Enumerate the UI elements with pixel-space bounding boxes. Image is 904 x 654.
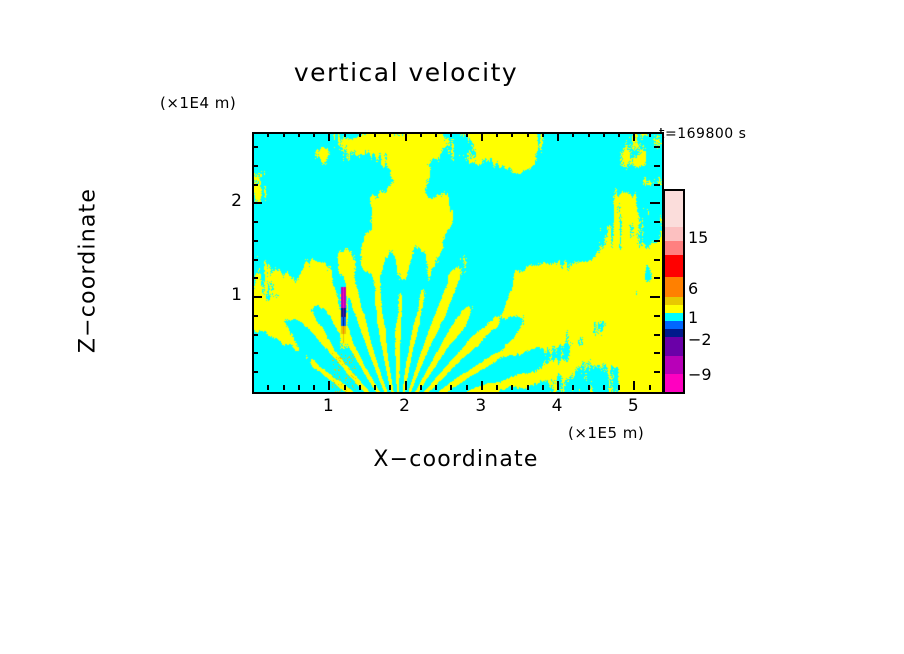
tick-mark [252,352,258,354]
contour-plot-area [252,132,664,394]
tick-mark [252,221,258,223]
colorbar-band [665,277,683,297]
tick-mark [298,132,300,137]
tick-mark [588,132,590,137]
tick-mark [252,184,258,186]
tick-mark [654,277,660,279]
colorbar-band [665,191,683,227]
colorbar-band [665,356,683,374]
contour-field [254,134,662,392]
tick-mark [405,381,407,390]
x-tick-label: 2 [390,396,420,416]
tick-mark [654,315,660,317]
tick-mark [649,385,651,390]
colorbar-band [665,337,683,356]
tick-mark [496,132,498,137]
tick-mark [435,385,437,390]
tick-mark [654,259,660,261]
tick-mark [283,132,285,137]
tick-mark [496,385,498,390]
tick-mark [588,385,590,390]
colorbar-band [665,313,683,321]
tick-mark [252,371,258,373]
tick-mark [633,381,635,390]
tick-mark [267,385,269,390]
tick-mark [542,132,544,137]
tick-mark [435,132,437,137]
colorbar-band [665,297,683,305]
tick-mark [283,385,285,390]
tick-mark [650,202,660,204]
tick-mark [572,132,574,137]
tick-mark [252,259,258,261]
tick-mark [481,381,483,390]
colorbar-band [665,241,683,255]
tick-mark [654,240,660,242]
colorbar-band [665,305,683,313]
x-tick-label: 1 [313,396,343,416]
tick-mark [527,385,529,390]
tick-mark [557,381,559,390]
tick-mark [450,132,452,137]
tick-mark [313,132,315,137]
tick-mark [359,385,361,390]
tick-mark [572,385,574,390]
tick-mark [450,385,452,390]
tick-mark [328,381,330,390]
tick-mark [252,165,258,167]
tick-mark [405,132,407,141]
tick-mark [252,296,262,298]
colorbar-band [665,374,683,392]
tick-mark [344,385,346,390]
colorbar-band [665,227,683,241]
tick-mark [359,132,361,137]
tick-mark [654,371,660,373]
y-axis-title: Z−coordinate [76,121,101,421]
x-axis-title: X−coordinate [252,447,660,472]
tick-mark [252,146,258,148]
tick-mark [267,132,269,137]
colorbar-band [665,321,683,329]
tick-mark [557,132,559,141]
x-tick-label: 5 [618,396,648,416]
y-tick-label: 2 [222,191,242,211]
tick-mark [633,132,635,141]
colorbar-tick-label: −2 [688,330,712,349]
tick-mark [466,132,468,137]
page-title: vertical velocity [0,58,862,87]
colorbar-band [665,329,683,337]
tick-mark [654,146,660,148]
colorbar-tick-label: 15 [688,228,708,247]
tick-mark [481,132,483,141]
colorbar [663,189,685,394]
tick-mark [618,385,620,390]
tick-mark [618,132,620,137]
tick-mark [527,132,529,137]
x-axis-unit-label: (×1E5 m) [568,424,644,442]
y-tick-label: 1 [222,285,242,305]
tick-mark [650,296,660,298]
tick-mark [374,385,376,390]
tick-mark [420,132,422,137]
tick-mark [252,240,258,242]
tick-mark [328,132,330,141]
tick-mark [603,385,605,390]
colorbar-tick-label: 6 [688,279,698,298]
tick-mark [252,277,258,279]
tick-mark [511,132,513,137]
colorbar-tick-label: 1 [688,308,698,327]
tick-mark [466,385,468,390]
tick-mark [654,165,660,167]
x-tick-label: 4 [542,396,572,416]
tick-mark [252,315,258,317]
tick-mark [654,334,660,336]
tick-mark [389,385,391,390]
tick-mark [298,385,300,390]
y-axis-unit-label: (×1E4 m) [160,94,236,112]
x-tick-label: 3 [466,396,496,416]
tick-mark [252,202,262,204]
colorbar-band [665,255,683,277]
tick-mark [542,385,544,390]
tick-mark [389,132,391,137]
tick-mark [420,385,422,390]
tick-mark [603,132,605,137]
tick-mark [374,132,376,137]
tick-mark [313,385,315,390]
tick-mark [344,132,346,137]
tick-mark [654,184,660,186]
tick-mark [649,132,651,137]
tick-mark [654,352,660,354]
tick-mark [252,334,258,336]
colorbar-tick-label: −9 [688,365,712,384]
tick-mark [654,221,660,223]
time-annotation: t=169800 s [659,126,746,142]
tick-mark [511,385,513,390]
